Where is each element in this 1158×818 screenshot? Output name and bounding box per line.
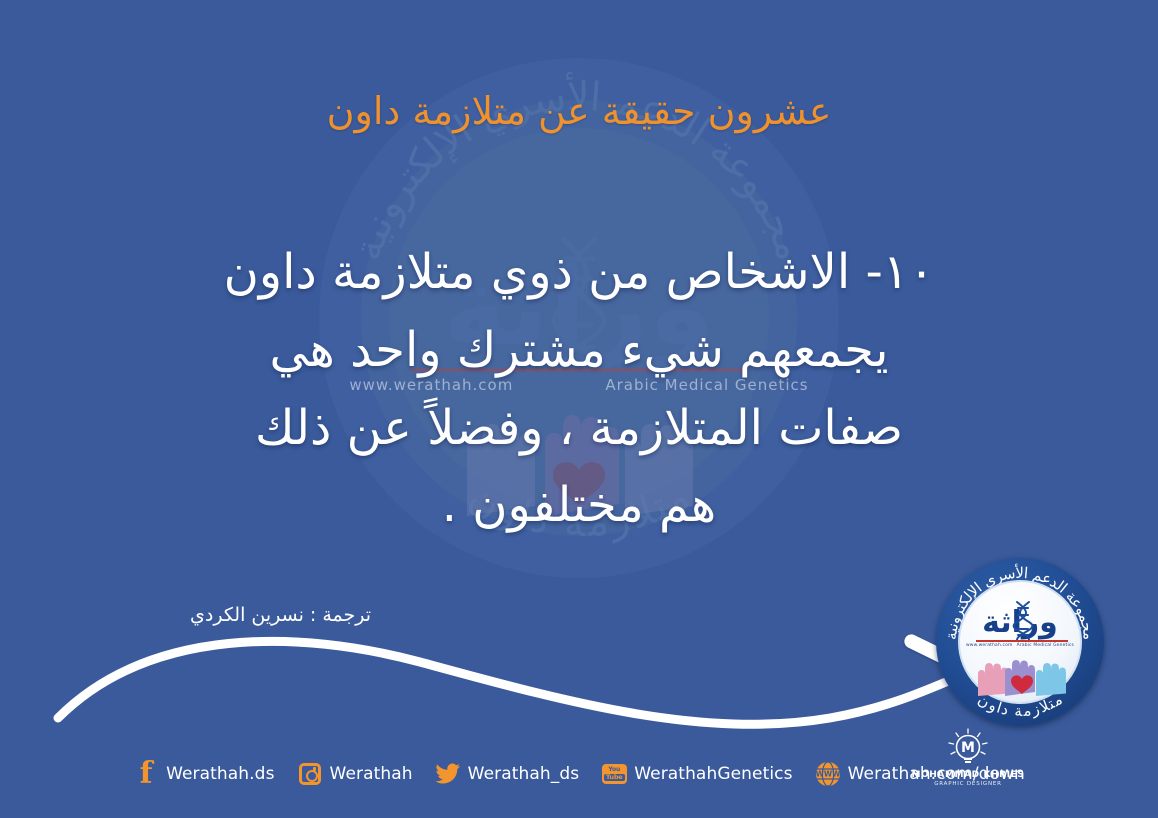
- youtube-icon-bottom-text: Tube: [604, 774, 625, 782]
- facebook-icon[interactable]: f: [133, 761, 159, 787]
- poster-card: مجموعة الدعم الأسري الإلكترونية متلازمة …: [0, 0, 1158, 818]
- social-twitter[interactable]: Werathah_ds: [435, 761, 580, 787]
- lightbulb-m-icon: M: [945, 728, 991, 768]
- logo-url: www.werathah.com: [966, 643, 1013, 648]
- fact-line-1: ١٠- الاشخاص من ذوي متلازمة داون: [96, 234, 1062, 312]
- fact-body-text: ١٠- الاشخاص من ذوي متلازمة داون يجمعهم ش…: [96, 234, 1062, 545]
- designer-role: GRAPHIC DESIGNER: [908, 781, 1028, 787]
- logo-inner-disc: وراثة www.werathah.com Arabic Medical Ge…: [958, 580, 1082, 704]
- werathah-logo: مجموعة الدعم الأسري الإلكترونية متلازمة …: [936, 558, 1104, 726]
- designer-monogram: M: [961, 740, 975, 756]
- fact-line-2: يجمعهم شيء مشترك واحد هي: [96, 312, 1062, 390]
- translator-credit: ترجمة : نسرين الكردي: [190, 604, 371, 626]
- facebook-handle: Werathah.ds: [166, 764, 274, 784]
- twitter-handle: Werathah_ds: [468, 764, 580, 784]
- social-youtube[interactable]: You Tube WerathahGenetics: [601, 761, 792, 787]
- globe-www-label: WWW: [815, 770, 840, 779]
- twitter-icon[interactable]: [435, 761, 461, 787]
- globe-www-icon[interactable]: WWW: [815, 761, 841, 787]
- designer-credit: M MOHAMMAD KHRIES GRAPHIC DESIGNER: [908, 728, 1028, 787]
- social-instagram[interactable]: Werathah: [297, 761, 413, 787]
- youtube-icon[interactable]: You Tube: [601, 761, 627, 787]
- instagram-icon[interactable]: [297, 761, 323, 787]
- page-title: عشرون حقيقة عن متلازمة داون: [0, 88, 1158, 136]
- logo-tagline: Arabic Medical Genetics: [1017, 643, 1074, 648]
- logo-hands-heart-icon: [972, 652, 1072, 696]
- logo-dna-icon: [1012, 600, 1034, 642]
- instagram-handle: Werathah: [330, 764, 413, 784]
- youtube-handle: WerathahGenetics: [634, 764, 792, 784]
- fact-line-3: صفات المتلازمة ، وفضلاً عن ذلك: [96, 390, 1062, 468]
- designer-name: MOHAMMAD KHRIES: [908, 770, 1028, 780]
- fact-line-4: هم مختلفون .: [96, 467, 1062, 545]
- youtube-icon-top-text: You: [608, 767, 620, 773]
- social-facebook[interactable]: f Werathah.ds: [133, 761, 274, 787]
- logo-red-rule: [976, 640, 1068, 642]
